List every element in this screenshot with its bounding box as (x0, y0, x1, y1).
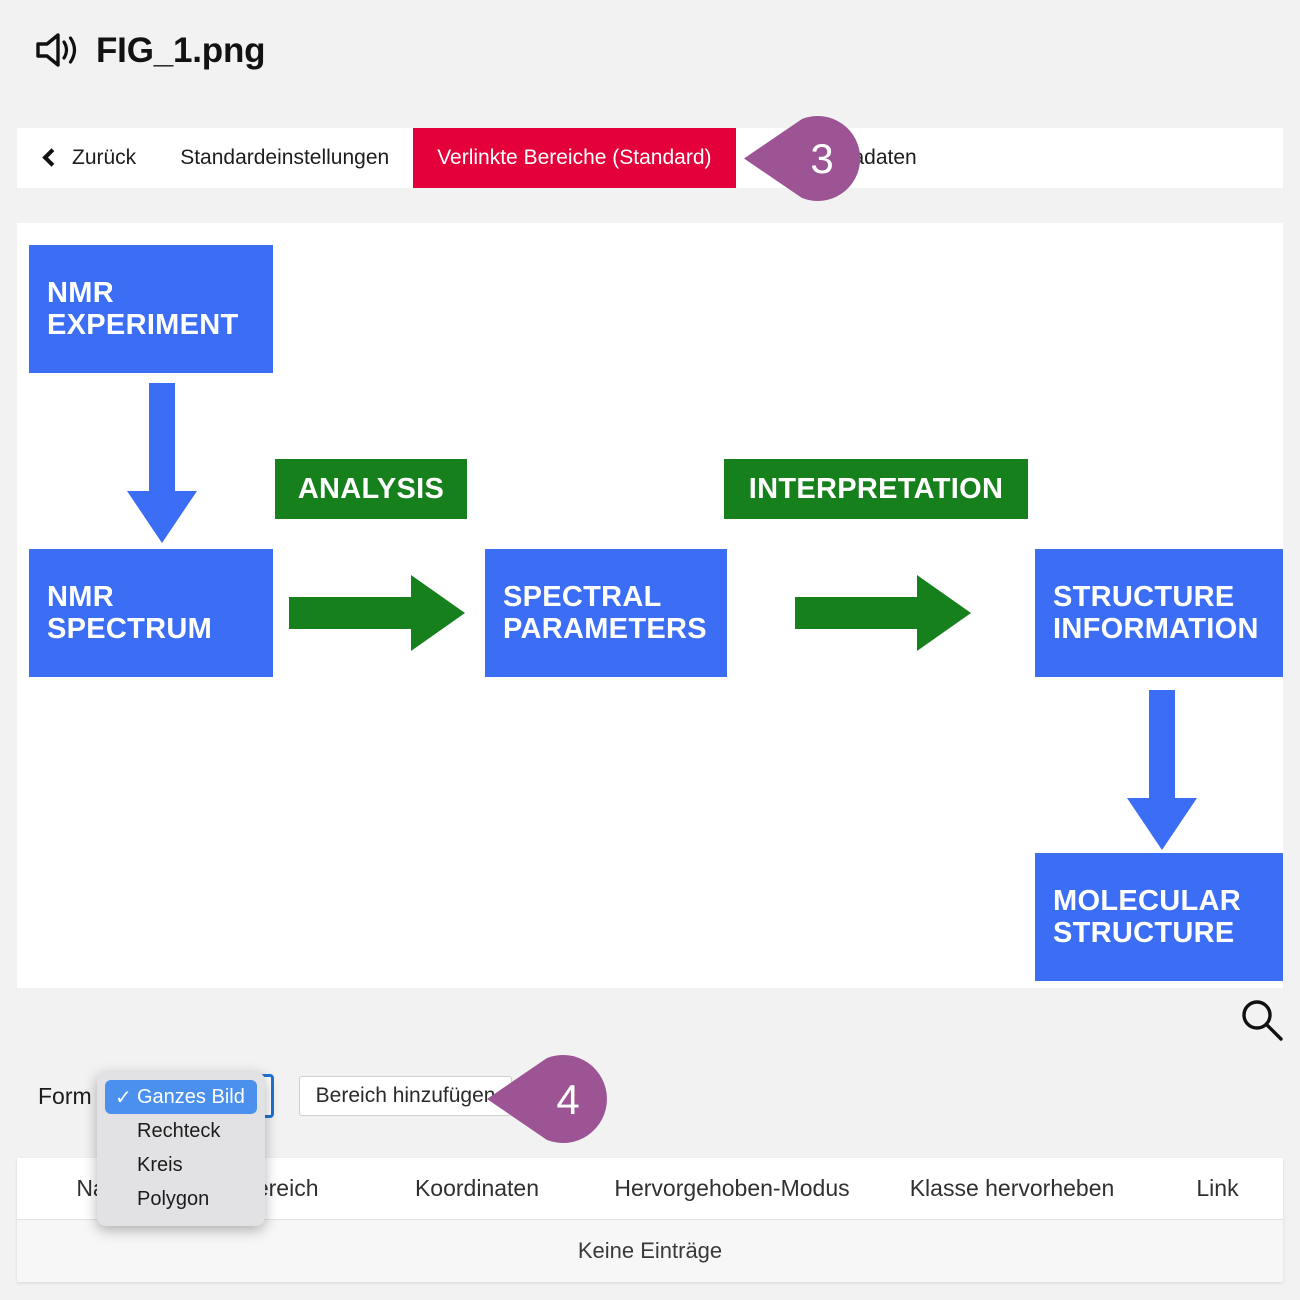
figure-image-panel[interactable]: NMR EXPERIMENT NMR SPECTRUM ANALYSIS SPE… (17, 223, 1283, 988)
figure-node-molecular-structure: MOLECULAR STRUCTURE (1035, 853, 1283, 981)
shape-label: Form (38, 1083, 92, 1110)
tab-label: Verlinkte Bereiche (Standard) (437, 146, 711, 170)
node-line: PARAMETERS (503, 613, 707, 645)
arrow-down-experiment-to-spectrum (122, 383, 202, 548)
dropdown-option-rechteck[interactable]: Rechteck (105, 1114, 257, 1148)
table-column-hervorgehoben[interactable]: Hervorgehoben-Modus (592, 1175, 872, 1202)
dropdown-option-polygon[interactable]: Polygon (105, 1182, 257, 1216)
table-column-link[interactable]: Link (1152, 1175, 1283, 1202)
figure-node-nmr-spectrum: NMR SPECTRUM (29, 549, 273, 677)
figure-node-spectral-parameters: SPECTRAL PARAMETERS (485, 549, 727, 677)
page-header: FIG_1.png (0, 0, 1300, 100)
node-line: EXPERIMENT (47, 309, 239, 341)
node-line: SPECTRAL (503, 581, 662, 613)
tab-standardeinstellungen[interactable]: Standardeinstellungen (156, 128, 413, 188)
arrow-right-interpretation (795, 572, 973, 654)
dropdown-option-label: Polygon (137, 1188, 209, 1211)
figure-node-analysis: ANALYSIS (275, 459, 467, 519)
magnifier-icon[interactable] (1238, 997, 1286, 1045)
node-line: INFORMATION (1053, 613, 1259, 645)
node-line: STRUCTURE (1053, 917, 1235, 949)
add-area-button[interactable]: Bereich hinzufügen (299, 1076, 513, 1116)
table-empty-text: Keine Einträge (578, 1238, 722, 1264)
arrow-right-analysis (289, 572, 467, 654)
add-area-button-label: Bereich hinzufügen (316, 1084, 496, 1108)
speaker-icon (34, 31, 80, 69)
back-button-label: Zurück (72, 146, 136, 170)
node-line: STRUCTURE (1053, 581, 1235, 613)
tab-metadaten[interactable]: Metadaten (736, 128, 941, 188)
figure-node-nmr-experiment: NMR EXPERIMENT (29, 245, 273, 373)
node-line: ANALYSIS (298, 473, 444, 505)
table-column-koordinaten[interactable]: Koordinaten (362, 1175, 592, 1202)
node-line: INTERPRETATION (749, 473, 1003, 505)
chevron-left-icon (42, 148, 60, 166)
dropdown-option-ganzes-bild[interactable]: ✓ Ganzes Bild (105, 1080, 257, 1114)
node-line: MOLECULAR (1053, 885, 1241, 917)
node-line: NMR (47, 581, 114, 613)
node-line: SPECTRUM (47, 613, 212, 645)
figure-node-interpretation: INTERPRETATION (724, 459, 1028, 519)
page-title: FIG_1.png (96, 33, 265, 68)
tab-verlinkte-bereiche[interactable]: Verlinkte Bereiche (Standard) (413, 128, 735, 188)
table-empty-row: Keine Einträge (17, 1220, 1283, 1282)
tab-label: Metadaten (818, 146, 917, 170)
dropdown-option-label: Rechteck (137, 1120, 220, 1143)
check-icon: ✓ (115, 1085, 137, 1110)
tab-bar: Zurück Standardeinstellungen Verlinkte B… (17, 128, 1283, 188)
callout-number: 4 (556, 1076, 579, 1124)
shape-select-dropdown[interactable]: ✓ Ganzes Bild Rechteck Kreis Polygon (97, 1072, 265, 1226)
figure-node-structure-information: STRUCTURE INFORMATION (1035, 549, 1283, 677)
tab-label: Standardeinstellungen (180, 146, 389, 170)
dropdown-option-kreis[interactable]: Kreis (105, 1148, 257, 1182)
arrow-down-structure-to-molecular (1122, 690, 1202, 855)
table-column-klasse[interactable]: Klasse hervorheben (872, 1175, 1152, 1202)
node-line: NMR (47, 277, 114, 309)
back-button[interactable]: Zurück (17, 128, 156, 188)
dropdown-option-label: Kreis (137, 1154, 183, 1177)
dropdown-option-label: Ganzes Bild (137, 1086, 245, 1109)
